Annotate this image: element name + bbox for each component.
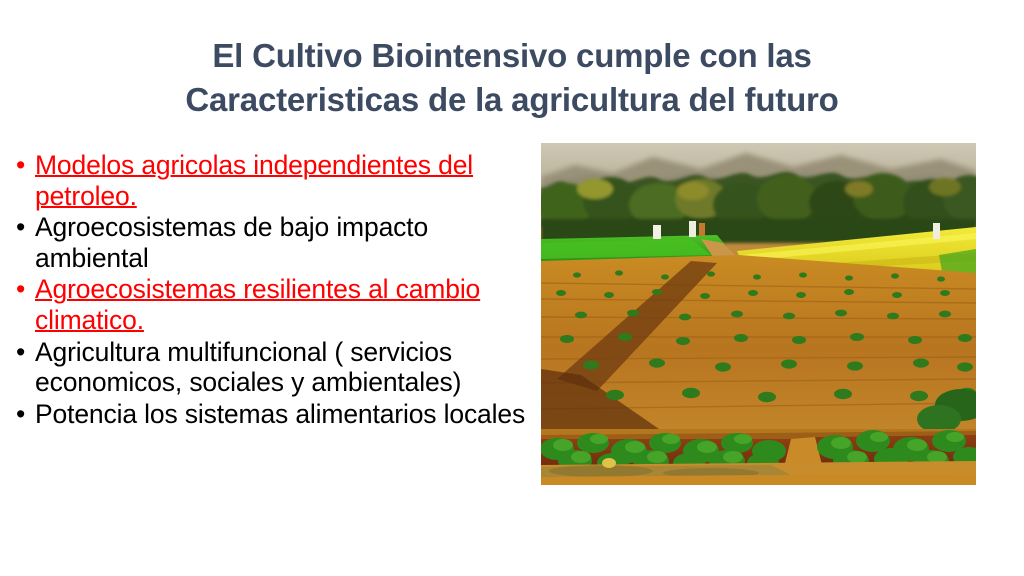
list-item-label: Potencia los sistemas alimentarios local… bbox=[35, 399, 525, 429]
title-line-2: Caracteristicas de la agricultura del fu… bbox=[60, 78, 964, 122]
bullet-marker-icon: • bbox=[16, 212, 25, 243]
list-item: • Potencia los sistemas alimentarios loc… bbox=[10, 399, 535, 430]
page-title: El Cultivo Biointensivo cumple con las C… bbox=[60, 34, 964, 122]
bullet-marker-icon: • bbox=[16, 274, 25, 305]
bullet-list: • Modelos agricolas independientes del p… bbox=[10, 150, 535, 430]
garden-photo-illustration bbox=[541, 143, 976, 485]
slide-canvas: El Cultivo Biointensivo cumple con las C… bbox=[0, 0, 1024, 576]
bullet-marker-icon: • bbox=[16, 399, 25, 430]
list-item-label: Agroecosistemas de bajo impacto ambienta… bbox=[35, 212, 428, 273]
list-item-label: Agricultura multifuncional ( servicios e… bbox=[35, 337, 461, 398]
list-item: • Agroecosistemas resilientes al cambio … bbox=[10, 274, 535, 335]
title-line-1: El Cultivo Biointensivo cumple con las bbox=[60, 34, 964, 78]
list-item: • Agroecosistemas de bajo impacto ambien… bbox=[10, 212, 535, 273]
biointensive-garden-photo bbox=[541, 143, 976, 485]
bullet-marker-icon: • bbox=[16, 337, 25, 368]
list-item: • Modelos agricolas independientes del p… bbox=[10, 150, 535, 211]
list-item-label: Modelos agricolas independientes del pet… bbox=[35, 150, 473, 211]
bullet-marker-icon: • bbox=[16, 150, 25, 181]
list-item-label: Agroecosistemas resilientes al cambio cl… bbox=[35, 274, 480, 335]
list-item: • Agricultura multifuncional ( servicios… bbox=[10, 337, 535, 398]
